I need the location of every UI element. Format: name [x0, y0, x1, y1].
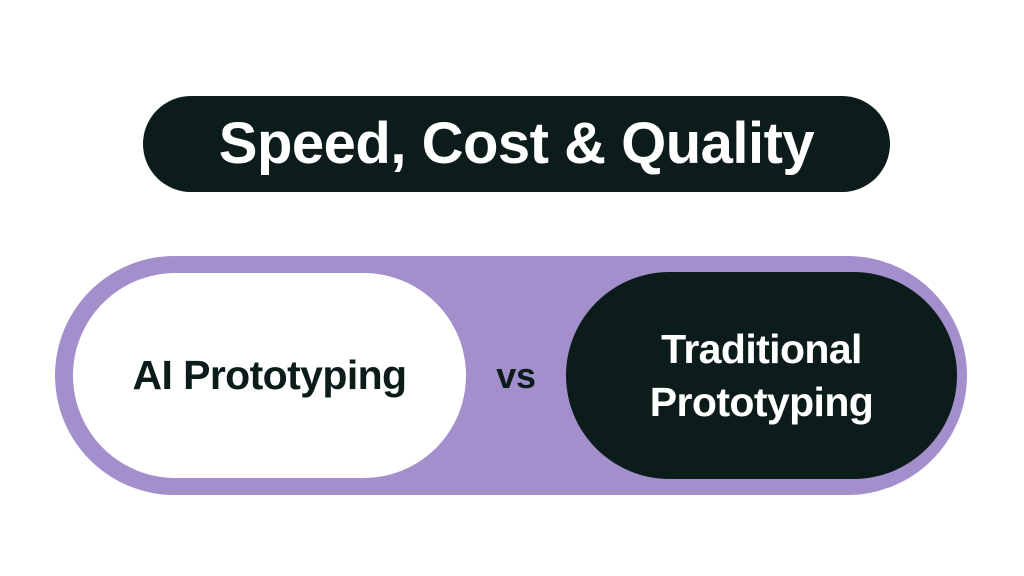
page-title: Speed, Cost & Quality	[219, 115, 814, 173]
comparison-capsule: AI Prototyping vs Traditional Prototypin…	[55, 256, 967, 495]
slide-canvas: Speed, Cost & Quality AI Prototyping vs …	[0, 0, 1024, 576]
title-pill: Speed, Cost & Quality	[143, 96, 890, 192]
option-traditional-prototyping-label-line-2: Prototyping	[650, 376, 873, 428]
option-traditional-prototyping-label-line-1: Traditional	[661, 323, 862, 375]
versus-separator: vs	[466, 273, 566, 478]
option-traditional-prototyping[interactable]: Traditional Prototyping	[566, 272, 957, 479]
option-ai-prototyping[interactable]: AI Prototyping	[73, 273, 466, 478]
option-ai-prototyping-label: AI Prototyping	[132, 354, 406, 397]
